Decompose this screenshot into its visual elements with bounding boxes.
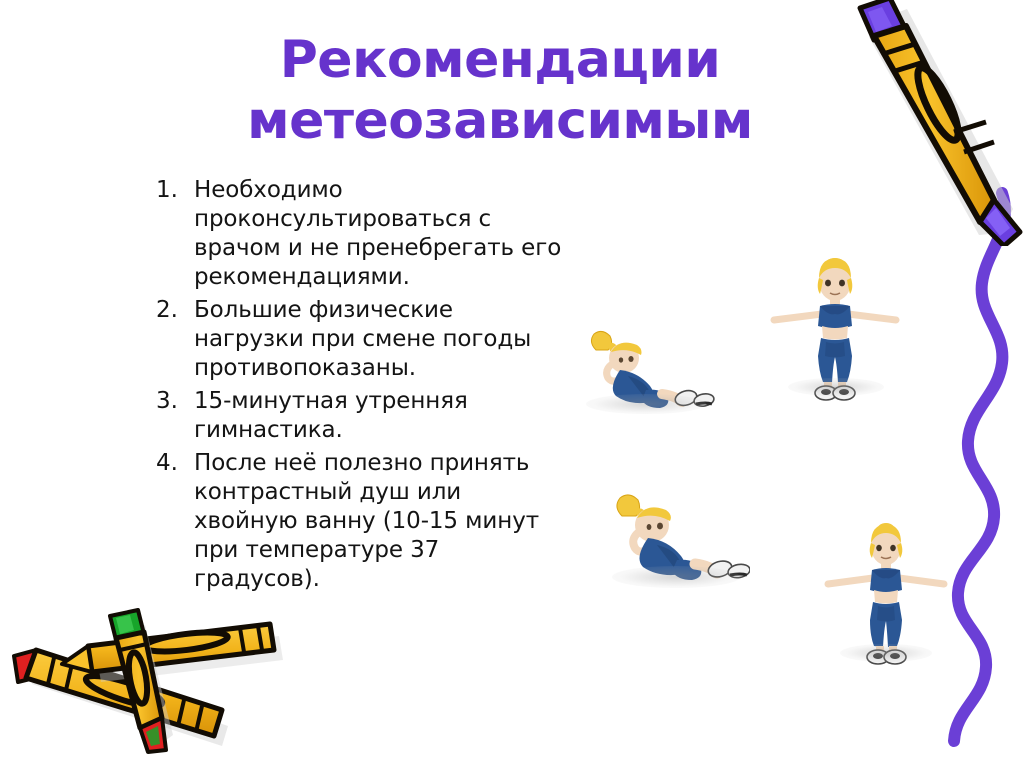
slide-canvas: Рекомендации метеозависимым 1. Необходим… (0, 0, 1024, 768)
list-item-marker: 1. (152, 176, 194, 205)
figure-shadow (840, 644, 932, 662)
crayon-top-right-icon (838, 0, 1024, 246)
figure-shadow (586, 394, 706, 414)
figure-standing-upper (760, 252, 910, 402)
list-item-marker: 3. (152, 387, 194, 416)
figure-shadow (612, 566, 740, 588)
figure-situp-upper (576, 328, 716, 418)
squiggle-right-icon (930, 185, 1024, 765)
list-item: 1. Необходимо проконсультироваться с вра… (152, 176, 564, 292)
crayon-bottom-left-vertical-icon (58, 606, 288, 756)
list-item: 2. Большие физические нагрузки при смене… (152, 296, 564, 383)
list-item: 4. После неё полезно принять контрастный… (152, 449, 564, 594)
figure-shadow (788, 378, 884, 396)
list-item-text: Большие физические нагрузки при смене по… (194, 296, 564, 383)
figure-situp-lower (600, 492, 750, 592)
recommendations-list: 1. Необходимо проконсультироваться с вра… (152, 176, 564, 598)
figure-standing-lower (816, 516, 956, 666)
page-title: Рекомендации метеозависимым (170, 30, 830, 152)
list-item: 3. 15-минутная утренняя гимнастика. (152, 387, 564, 445)
list-item-marker: 4. (152, 449, 194, 478)
list-item-text: Необходимо проконсультироваться с врачом… (194, 176, 564, 292)
list-item-text: После неё полезно принять контрастный ду… (194, 449, 564, 594)
list-item-marker: 2. (152, 296, 194, 325)
list-item-text: 15-минутная утренняя гимнастика. (194, 387, 564, 445)
page-title-line-2: метеозависимым (170, 91, 830, 152)
page-title-line-1: Рекомендации (170, 30, 830, 91)
